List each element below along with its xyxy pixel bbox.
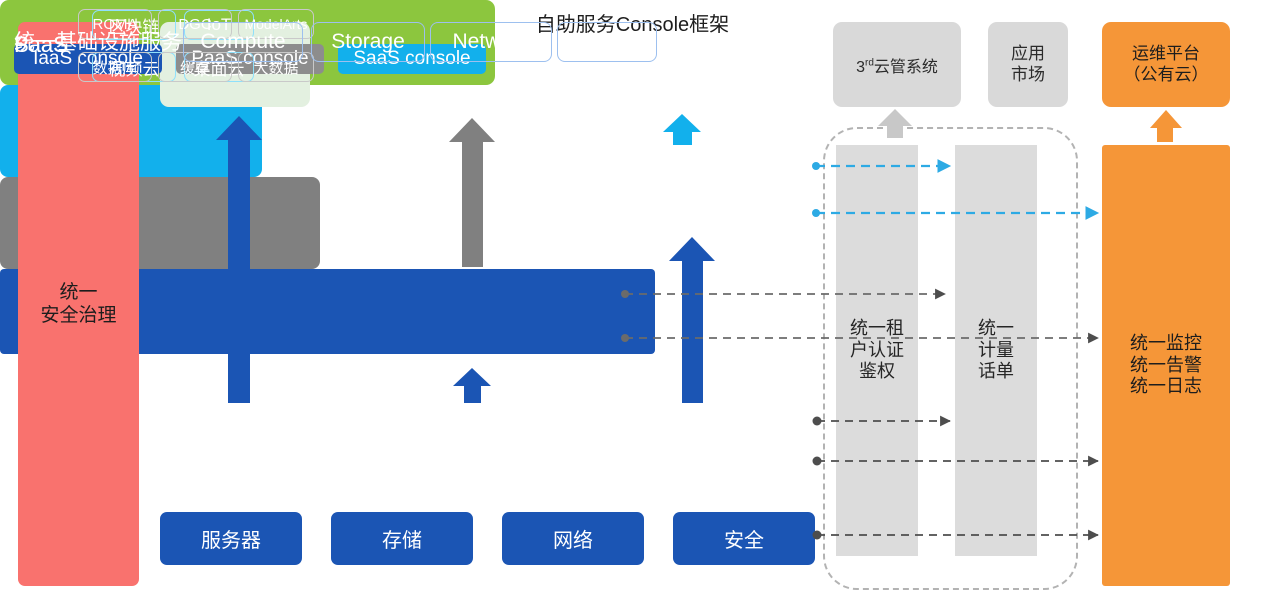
infra-chip-storage[interactable]: Storage [311,22,425,62]
arrow-paas-to-paas-console [449,118,495,267]
infra-chip-compute[interactable]: Compute [183,22,303,62]
architecture-diagram: 统一 安全治理 API网关 自助服务Console框架 IaaS console… [0,0,1265,605]
third-party-cloud-label: 3rd云管系统 [856,53,938,77]
arrow-infra-to-paas [453,368,491,403]
ops-platform-block: 运维平台 （公有云） [1102,22,1230,107]
ordinal-superscript: rd [865,57,874,68]
ops-platform-label: 运维平台 （公有云） [1124,44,1209,85]
infra-chip-cce[interactable]: CCE [557,22,657,62]
application-market-block: 应用 市场 [988,22,1068,107]
infra-chip-network[interactable]: Network [430,22,552,62]
unified-tenant-auth-label: 统一租 户认证 鉴权 [850,318,904,384]
arrow-infra-to-saas [669,237,715,403]
application-market-label: 应用 市场 [1011,44,1045,85]
unified-metering-billing-label: 统一 计量 话单 [978,318,1014,384]
ops-center-label: 统一监控 统一告警 统一日志 [1130,333,1202,399]
unified-security-governance-label: 统一 安全治理 [40,281,116,327]
ops-center-block: 统一监控 统一告警 统一日志 [1102,145,1230,586]
resource-box-network[interactable]: 网络 [502,512,644,565]
third-party-cloud-management-block: 3rd云管系统 [833,22,961,107]
resource-box-security[interactable]: 安全 [673,512,815,565]
unified-security-governance-block: 统一 安全治理 [18,22,139,586]
paas-chip-database[interactable]: 数据库 [78,52,152,82]
unified-tenant-auth-column: 统一租 户认证 鉴权 [836,145,918,556]
unified-metering-billing-column: 统一 计量 话单 [955,145,1037,556]
unified-infrastructure-label: 统一基础设施服务 [14,26,182,56]
resource-box-storage[interactable]: 存储 [331,512,473,565]
resource-box-server[interactable]: 服务器 [160,512,302,565]
arrow-saas-to-saas-console [663,114,701,145]
arrow-ops-center-to-ops-platform [1150,110,1182,142]
